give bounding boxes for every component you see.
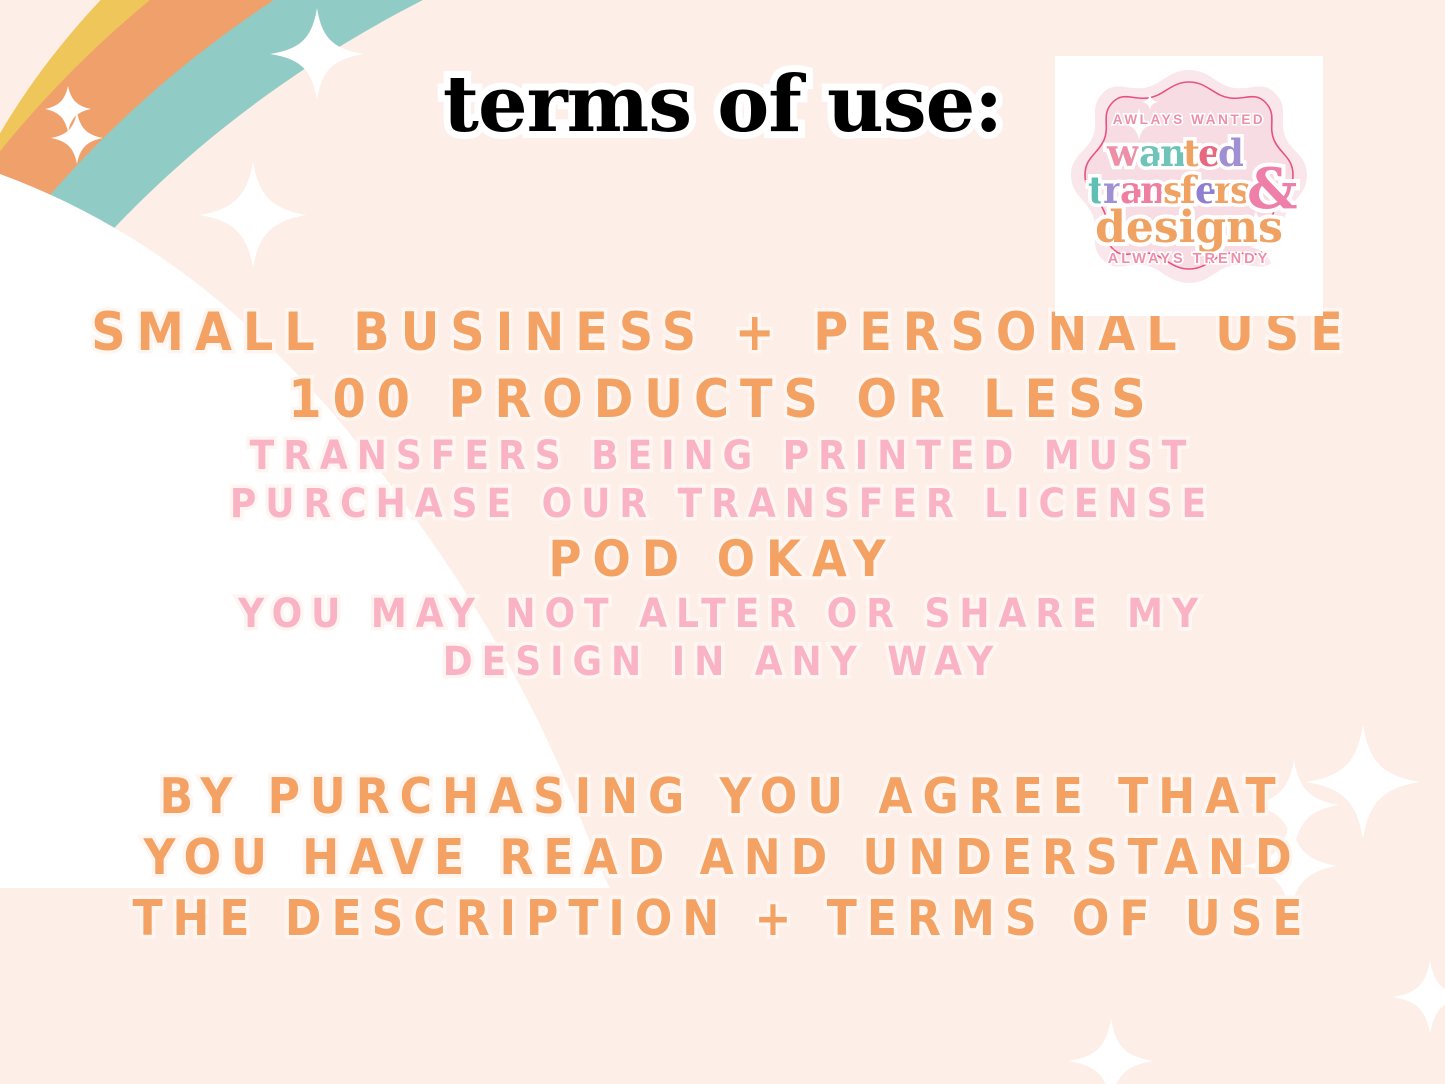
badge-bottom-text: ALWAYS TRENDY (1108, 251, 1271, 267)
poster-canvas: terms of use: AWLAYS WANTED (0, 0, 1445, 1084)
terms-line-4: PURCHASE OUR TRANSFER LICENSE (0, 484, 1445, 524)
agreement-line-2: YOU HAVE READ AND UNDERSTAND (0, 833, 1445, 882)
badge-word-designs: designs (1095, 202, 1283, 253)
terms-line-6: YOU MAY NOT ALTER OR SHARE MY (0, 594, 1445, 634)
terms-line-3: TRANSFERS BEING PRINTED MUST (0, 436, 1445, 476)
terms-line-7: DESIGN IN ANY WAY (0, 642, 1445, 682)
agreement-line-1: BY PURCHASING YOU AGREE THAT (0, 772, 1445, 821)
agreement-line-3: THE DESCRIPTION + TERMS OF USE (0, 894, 1445, 943)
page-title: terms of use: (443, 66, 1002, 144)
sparkle-icon (200, 162, 306, 268)
brand-logo: AWLAYS WANTED w a n t e d t r a n s (1055, 56, 1323, 316)
sparkle-icon (1393, 960, 1445, 1034)
badge-top-text: AWLAYS WANTED (1113, 112, 1266, 127)
terms-list: SMALL BUSINESS + PERSONAL USE 100 PRODUC… (0, 306, 1445, 682)
brand-logo-art: AWLAYS WANTED w a n t e d t r a n s (1055, 56, 1323, 316)
terms-line-5: POD OKAY (0, 534, 1445, 584)
sparkle-icon (1068, 1018, 1154, 1084)
terms-line-2: 100 PRODUCTS OR LESS (0, 373, 1445, 426)
agreement-list: BY PURCHASING YOU AGREE THAT YOU HAVE RE… (0, 772, 1445, 943)
